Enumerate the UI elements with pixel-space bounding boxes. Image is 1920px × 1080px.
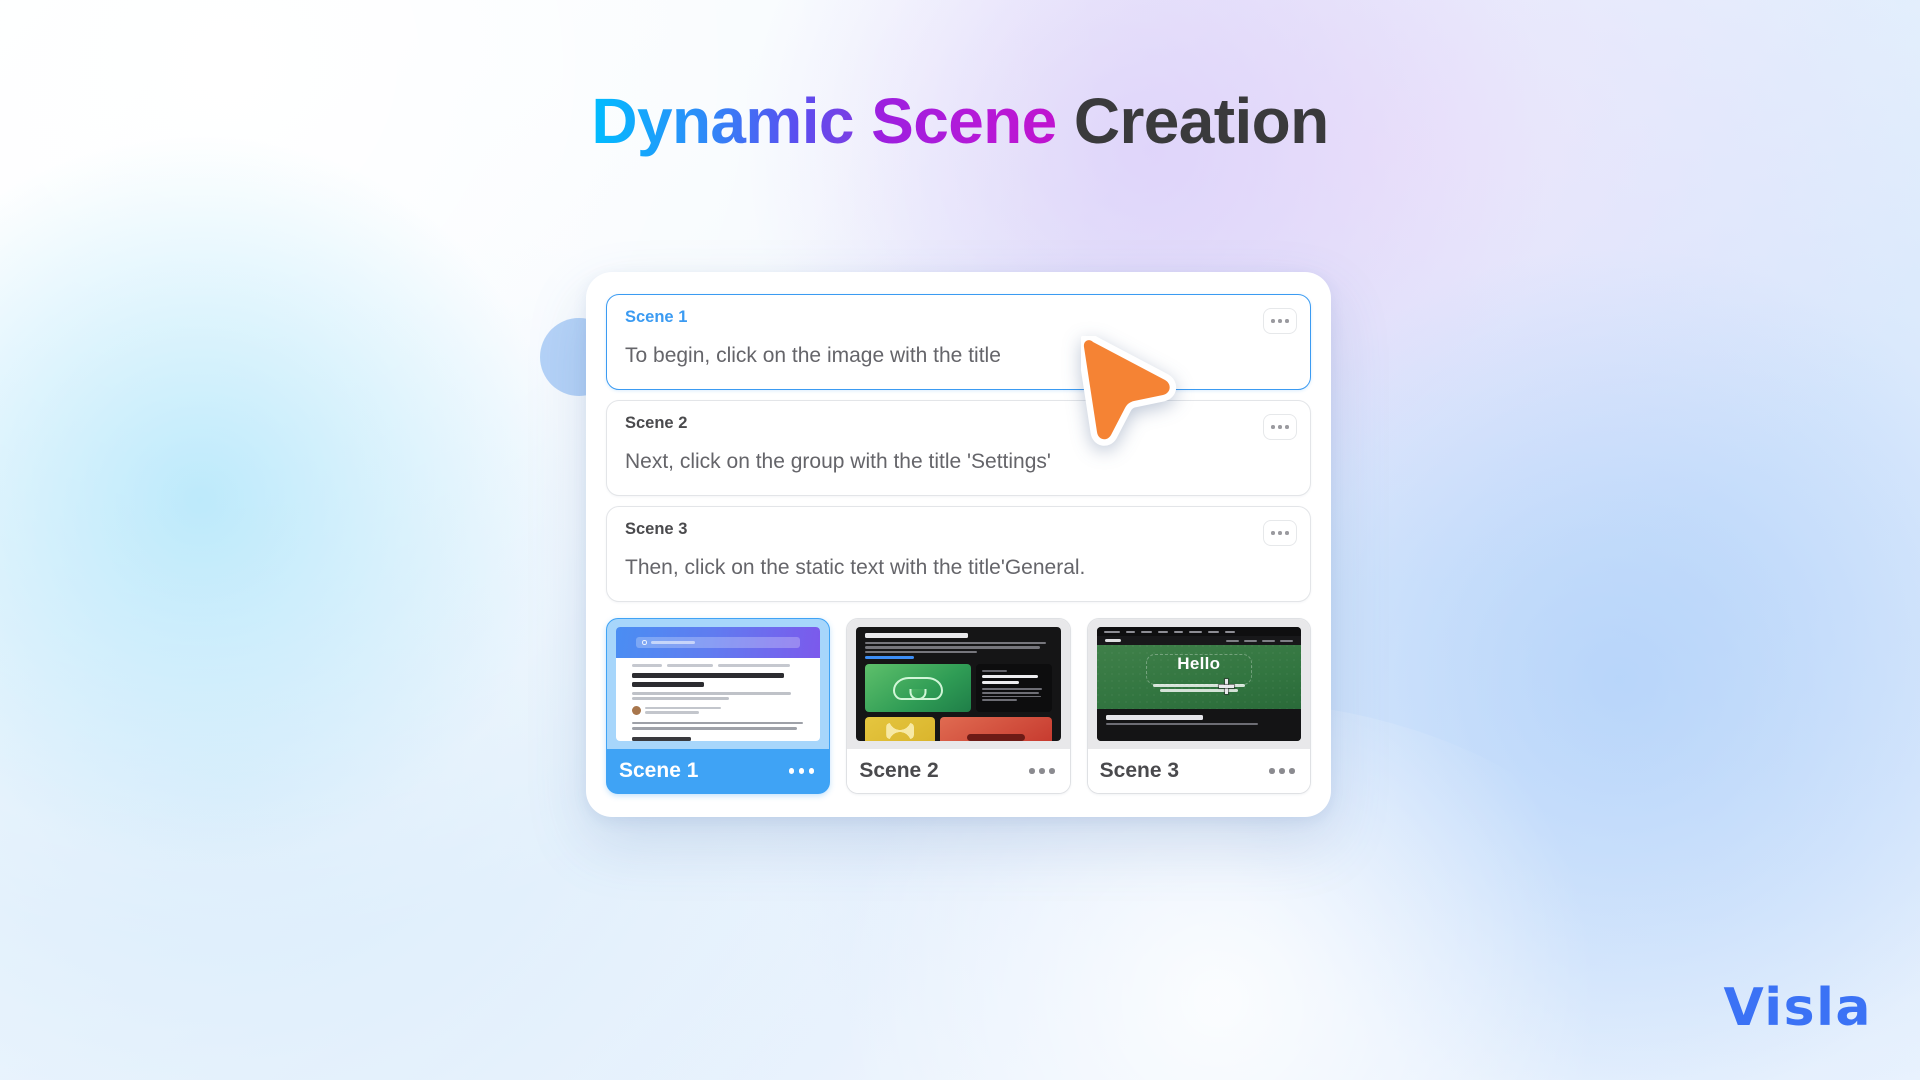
scene-row-title: Scene 3	[625, 521, 1292, 538]
preview-card-visionos	[865, 664, 970, 712]
scene-thumbnail-card[interactable]: Scene 2	[846, 618, 1070, 794]
thumbnail-label: Scene 3	[1100, 759, 1179, 783]
thumbnail-preview: Hello	[1088, 619, 1310, 749]
thumbnail-label: Scene 2	[859, 759, 938, 783]
ellipsis-icon[interactable]	[1263, 308, 1297, 334]
preview-card-row-1	[865, 664, 1051, 712]
title-word-creation: Creation	[1074, 85, 1329, 157]
preview-hig-grid	[856, 627, 1060, 741]
preview-subnav-title	[1105, 639, 1121, 641]
scene-row[interactable]: Scene 3 Then, click on the static text w…	[606, 506, 1311, 602]
preview-footer-title	[1106, 715, 1203, 720]
search-placeholder-line	[651, 641, 695, 644]
preview-card-red	[940, 717, 1052, 741]
title-word-scene: Scene	[871, 85, 1057, 157]
preview-card-title	[982, 675, 1046, 684]
title-word-dynamic: Dynamic	[591, 85, 854, 157]
vision-goggles-icon	[893, 677, 943, 700]
preview-hero-text: Hello	[1177, 654, 1220, 674]
ellipsis-icon[interactable]	[1029, 768, 1055, 774]
scene-row-title: Scene 2	[625, 415, 1292, 432]
ellipsis-icon[interactable]	[1263, 414, 1297, 440]
preview-card-designing	[976, 664, 1052, 712]
ellipsis-icon[interactable]	[789, 768, 815, 774]
preview-subnav-links	[1226, 640, 1293, 642]
ellipsis-icon[interactable]	[1269, 768, 1295, 774]
thumbnail-preview	[607, 619, 829, 749]
preview-dark-page	[856, 627, 1060, 741]
preview-hero: Hello	[1097, 645, 1301, 709]
avatar	[632, 706, 641, 715]
thumbnail-label: Scene 1	[619, 759, 698, 783]
preview-page-description	[865, 642, 1051, 653]
preview-pill-shape	[967, 734, 1025, 741]
preview-header-bar	[616, 627, 820, 658]
preview-subnav	[1097, 636, 1301, 645]
preview-article-subtitle	[632, 692, 804, 700]
preview-author	[632, 706, 804, 715]
preview-footer	[1097, 709, 1301, 741]
scene-row-description: Then, click on the static text with the …	[625, 555, 1292, 580]
scene-row[interactable]: Scene 1 To begin, click on the image wit…	[606, 294, 1311, 390]
scene-list: Scene 1 To begin, click on the image wit…	[606, 294, 1311, 602]
preview-link	[865, 656, 913, 659]
breadcrumb	[632, 664, 804, 667]
thumbnail-footer: Scene 1	[607, 749, 829, 793]
preview-card-yellow	[865, 717, 935, 741]
thumbnail-footer: Scene 2	[847, 749, 1069, 793]
bowtie-shape-icon	[886, 723, 914, 739]
preview-note-paragraph	[632, 722, 804, 730]
preview-section-heading	[632, 737, 691, 741]
scene-editor-panel: Scene 1 To begin, click on the image wit…	[586, 272, 1331, 817]
page-root: Dynamic Scene Creation Scene 1 To begin,…	[0, 0, 1920, 1080]
scene-row[interactable]: Scene 2 Next, click on the group with th…	[606, 400, 1311, 496]
preview-search-box	[636, 637, 799, 648]
preview-apple-design-hello: Hello	[1097, 627, 1301, 741]
preview-page-title	[865, 633, 967, 638]
scene-thumbnail-card[interactable]: Hello	[1087, 618, 1311, 794]
preview-page: Hello	[1097, 627, 1301, 741]
preview-navbar	[1097, 627, 1301, 636]
thumbnail-preview	[847, 619, 1069, 749]
preview-article-heading	[632, 673, 804, 688]
decorative-blob-cyan	[0, 120, 580, 880]
preview-card-row-2	[865, 717, 1051, 741]
ellipsis-icon[interactable]	[1263, 520, 1297, 546]
scene-row-description: To begin, click on the image with the ti…	[625, 343, 1292, 368]
thumbnail-footer: Scene 3	[1088, 749, 1310, 793]
page-title: Dynamic Scene Creation	[0, 84, 1920, 158]
search-icon	[642, 640, 647, 645]
preview-article-body	[616, 658, 820, 741]
preview-card-body	[982, 688, 1046, 701]
scene-thumbnail-strip: Scene 1	[606, 618, 1311, 794]
preview-footer-subtitle	[1106, 723, 1259, 725]
scene-row-title: Scene 1	[625, 309, 1292, 326]
scene-thumbnail-card[interactable]: Scene 1	[606, 618, 830, 794]
plus-handle-icon	[1219, 679, 1234, 694]
scene-row-description: Next, click on the group with the title …	[625, 449, 1292, 474]
preview-author-lines	[645, 707, 804, 714]
preview-card-eyebrow	[982, 670, 1008, 672]
preview-help-article	[616, 627, 820, 741]
visla-logo: Visla	[1723, 978, 1872, 1038]
